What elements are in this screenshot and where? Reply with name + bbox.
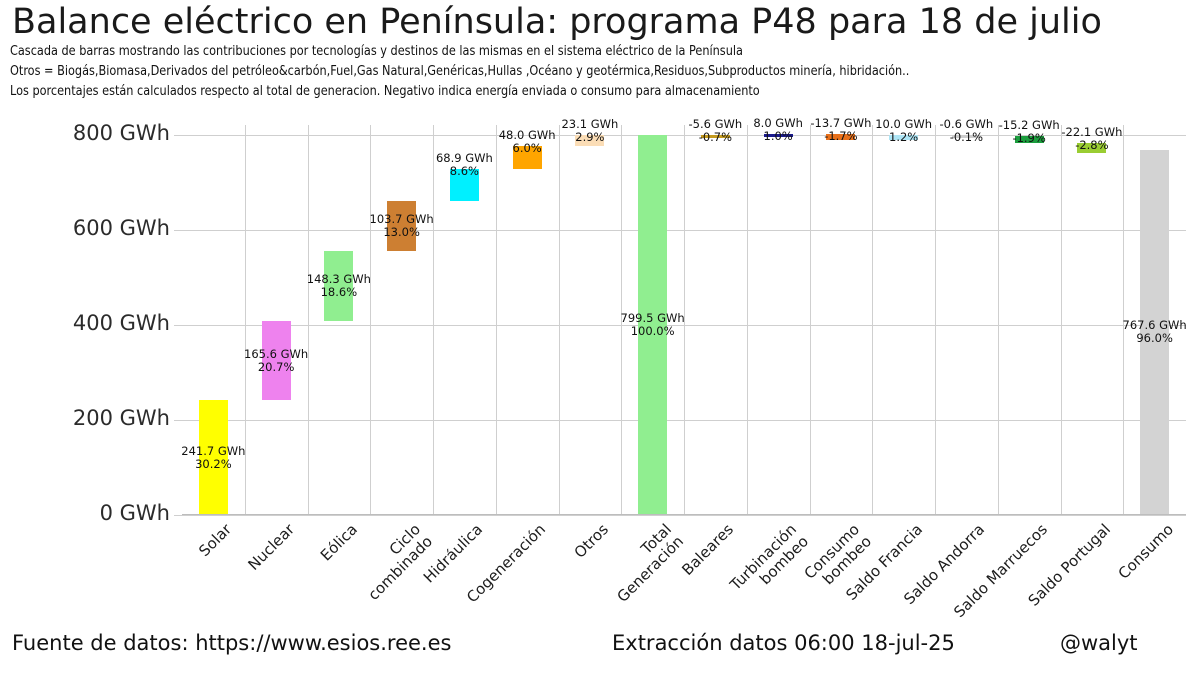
gridline-vertical — [684, 125, 685, 515]
bar-value-text: 23.1 GWh — [530, 118, 650, 131]
bar-value-text: -5.6 GWh — [655, 118, 775, 131]
chart-subtitle-line-1: Cascada de barras mostrando las contribu… — [10, 44, 743, 59]
gridline-vertical — [559, 125, 560, 515]
bar-nuclear[interactable] — [262, 321, 291, 400]
bar-turbinaci-n-bombeo[interactable] — [764, 134, 793, 138]
bar-value-label: -0.6 GWh-0.1% — [906, 118, 1026, 144]
bar-value-text: 68.9 GWh — [404, 152, 524, 165]
bar-value-text: -0.6 GWh — [906, 118, 1026, 131]
gridline-vertical — [998, 125, 999, 515]
chart-subtitle-line-3: Los porcentajes están calculados respect… — [10, 84, 760, 99]
bar-ciclo-combinado[interactable] — [387, 201, 416, 250]
y-axis-tick-label: 0 GWh — [0, 501, 170, 525]
bar-value-label: 10.0 GWh1.2% — [844, 118, 964, 144]
bar-baleares[interactable] — [701, 135, 730, 138]
footer-extraction: Extracción datos 06:00 18-jul-25 — [612, 631, 955, 655]
bar-e-lica[interactable] — [324, 251, 353, 322]
bar-value-text: -13.7 GWh — [781, 117, 901, 130]
x-axis-baseline — [182, 514, 1186, 515]
gridline-vertical — [747, 125, 748, 515]
bar-value-text: 10.0 GWh — [844, 118, 964, 131]
gridline-vertical — [370, 125, 371, 515]
gridline-vertical — [872, 125, 873, 515]
bar-value-text: -15.2 GWh — [969, 119, 1089, 132]
bar-cogeneraci-n[interactable] — [513, 146, 542, 169]
plot-area: 241.7 GWh30.2%165.6 GWh20.7%148.3 GWh18.… — [182, 125, 1186, 515]
bar-value-text: 8.0 GWh — [718, 117, 838, 130]
bar-value-label: 8.0 GWh1.0% — [718, 117, 838, 143]
y-axis-tick-label: 400 GWh — [0, 311, 170, 335]
y-axis-tick-label: 800 GWh — [0, 121, 170, 145]
bar-saldo-francia[interactable] — [889, 135, 918, 140]
bar-hidr-ulica[interactable] — [450, 169, 479, 202]
gridline-horizontal — [182, 515, 1186, 516]
y-axis-tick-label: 200 GWh — [0, 406, 170, 430]
bar-value-label: -5.6 GWh-0.7% — [655, 118, 775, 144]
bar-consumo-bombeo[interactable] — [826, 134, 855, 141]
bar-otros[interactable] — [575, 135, 604, 146]
bar-solar[interactable] — [199, 400, 228, 515]
bar-value-text: -22.1 GWh — [1032, 126, 1152, 139]
footer-source: Fuente de datos: https://www.esios.ree.e… — [12, 631, 451, 655]
y-axis-tick-label: 600 GWh — [0, 216, 170, 240]
bar-total-generaci-n[interactable] — [638, 135, 667, 515]
bar-saldo-marruecos[interactable] — [1015, 136, 1044, 143]
chart-figure: Balance eléctrico en Península: programa… — [0, 0, 1200, 663]
gridline-vertical — [935, 125, 936, 515]
gridline-vertical — [245, 125, 246, 515]
gridline-vertical — [1061, 125, 1062, 515]
bar-consumo[interactable] — [1140, 150, 1169, 515]
footer-handle: @walyt — [1060, 631, 1138, 655]
chart-title: Balance eléctrico en Península: programa… — [12, 2, 1102, 42]
gridline-vertical — [810, 125, 811, 515]
bar-saldo-andorra[interactable] — [952, 135, 981, 138]
gridline-vertical — [496, 125, 497, 515]
chart-subtitle-line-2: Otros = Biogás,Biomasa,Derivados del pet… — [10, 64, 909, 79]
gridline-vertical — [1123, 125, 1124, 515]
gridline-vertical — [621, 125, 622, 515]
gridline-vertical — [433, 125, 434, 515]
bar-saldo-portugal[interactable] — [1077, 143, 1106, 154]
gridline-vertical — [308, 125, 309, 515]
